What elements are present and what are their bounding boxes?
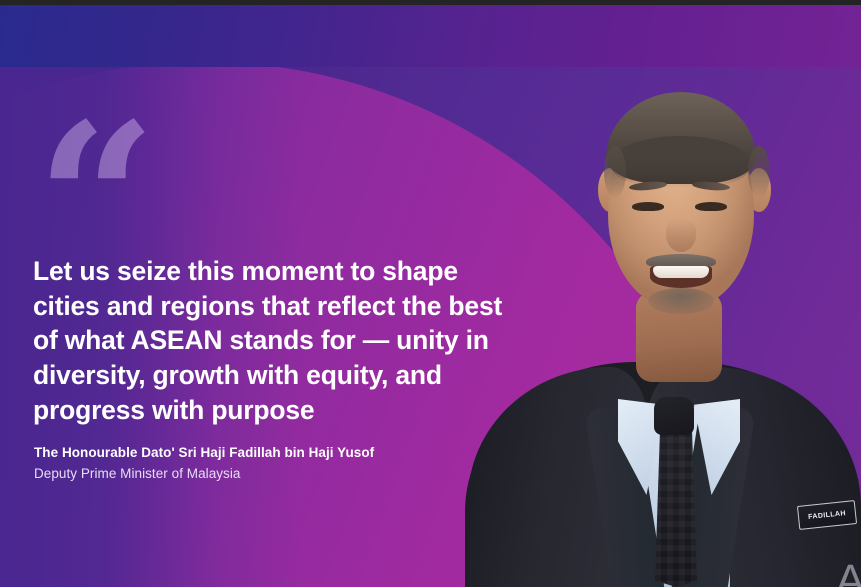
necktie <box>655 429 697 587</box>
temple-hair-right <box>748 146 770 198</box>
temple-hair-left <box>604 146 626 198</box>
teeth <box>653 266 709 278</box>
attribution: The Honourable Dato' Sri Haji Fadillah b… <box>34 443 374 483</box>
portrait-photo: FADILLAH <box>440 60 861 587</box>
chin-beard <box>648 288 714 314</box>
eye-right <box>695 202 727 211</box>
name-badge-text: FADILLAH <box>808 510 846 521</box>
top-dark-bar <box>0 0 861 5</box>
corner-watermark: A <box>836 559 861 587</box>
attribution-name: The Honourable Dato' Sri Haji Fadillah b… <box>34 443 374 463</box>
hair <box>606 92 756 184</box>
mouth <box>650 266 712 288</box>
eye-left <box>632 202 664 211</box>
header-gradient-band <box>0 5 861 67</box>
quote-text: Let us seize this moment to shape cities… <box>33 254 503 428</box>
necktie-knot <box>654 397 694 435</box>
quote-slide: “ Let us seize this moment to shape citi… <box>0 0 861 587</box>
attribution-role: Deputy Prime Minister of Malaysia <box>34 464 374 484</box>
nose <box>666 218 696 252</box>
